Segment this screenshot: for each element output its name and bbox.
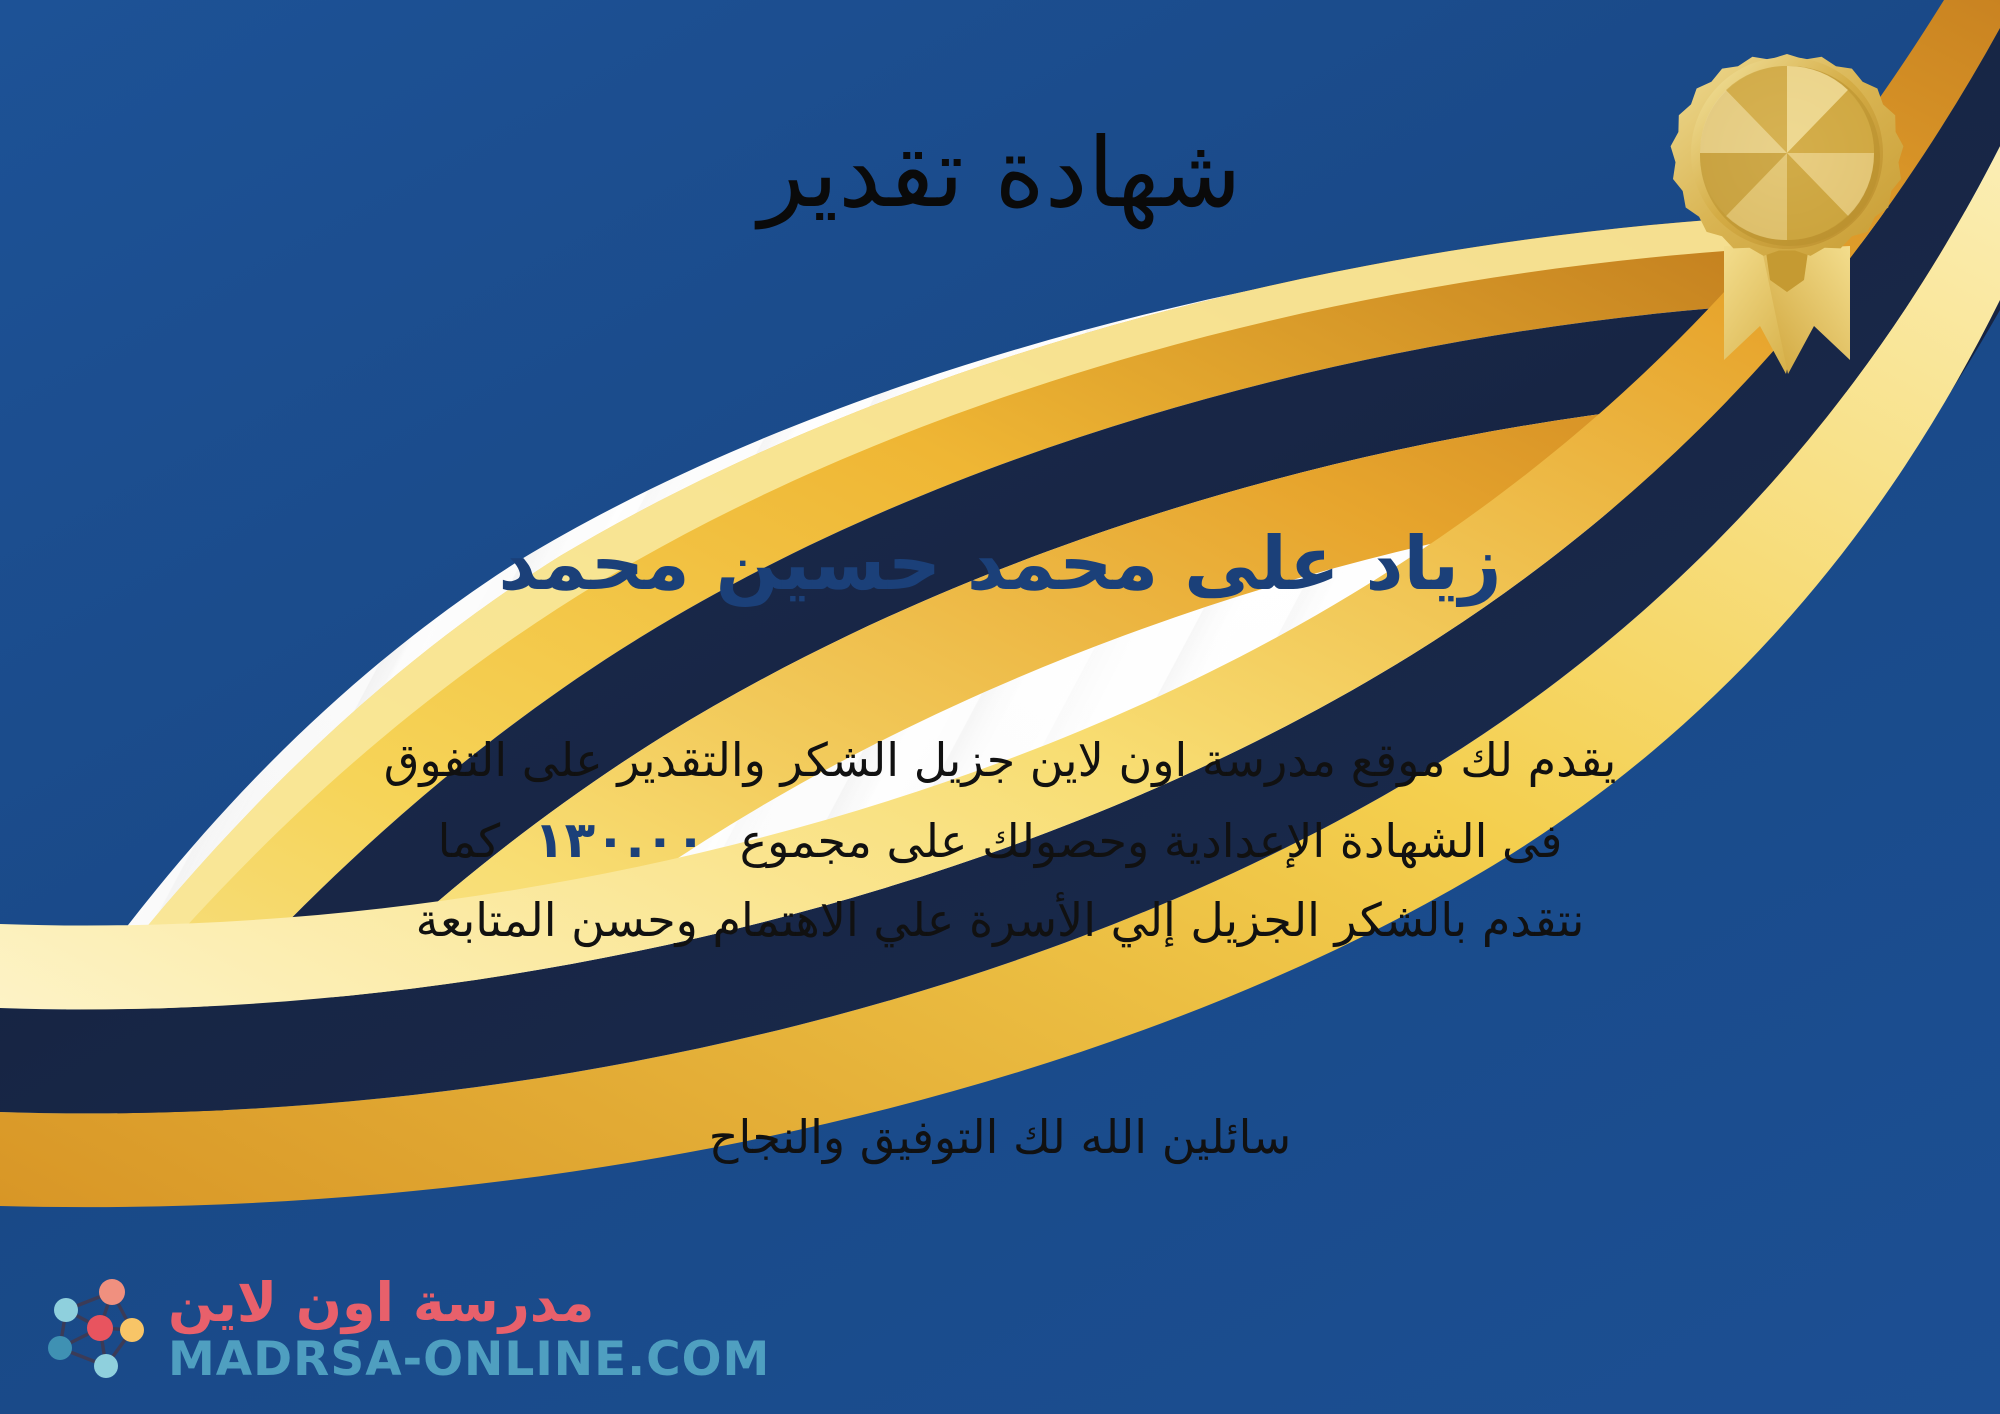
closing-wish-text: سائلين الله لك التوفيق والنجاح (0, 1110, 2000, 1164)
certificate-body-text: يقدم لك موقع مدرسة اون لاين جزيل الشكر و… (70, 728, 1930, 966)
certificate-canvas: شهادة تقدير زياد على محمد حسين محمد يقدم… (0, 0, 2000, 1414)
body-line-3: نتقدم بالشكر الجزيل إلي الأسرة علي الاهت… (70, 888, 1930, 953)
gold-award-medal-icon (1652, 38, 1922, 378)
body-line-2: فى الشهادة الإعدادية وحصولك على مجموع١٣٠… (70, 805, 1930, 876)
brand-website-url[interactable]: MADRSA-ONLINE.COM (168, 1336, 770, 1383)
brand-arabic-name: مدرسة اون لاين (168, 1276, 594, 1330)
brand-logo[interactable]: مدرسة اون لاين MADRSA-ONLINE.COM (34, 1270, 770, 1388)
network-nodes-icon (34, 1270, 152, 1388)
medal-core (1700, 66, 1874, 240)
body-line-1: يقدم لك موقع مدرسة اون لاين جزيل الشكر و… (70, 728, 1930, 793)
recipient-name: زياد على محمد حسين محمد (0, 520, 2000, 609)
score-value: ١٣٠.٠٠ (500, 811, 740, 869)
body-line-2-suffix: كما (438, 814, 501, 868)
body-line-2-prefix: فى الشهادة الإعدادية وحصولك على مجموع (740, 814, 1563, 868)
brand-text-block: مدرسة اون لاين MADRSA-ONLINE.COM (168, 1276, 770, 1383)
